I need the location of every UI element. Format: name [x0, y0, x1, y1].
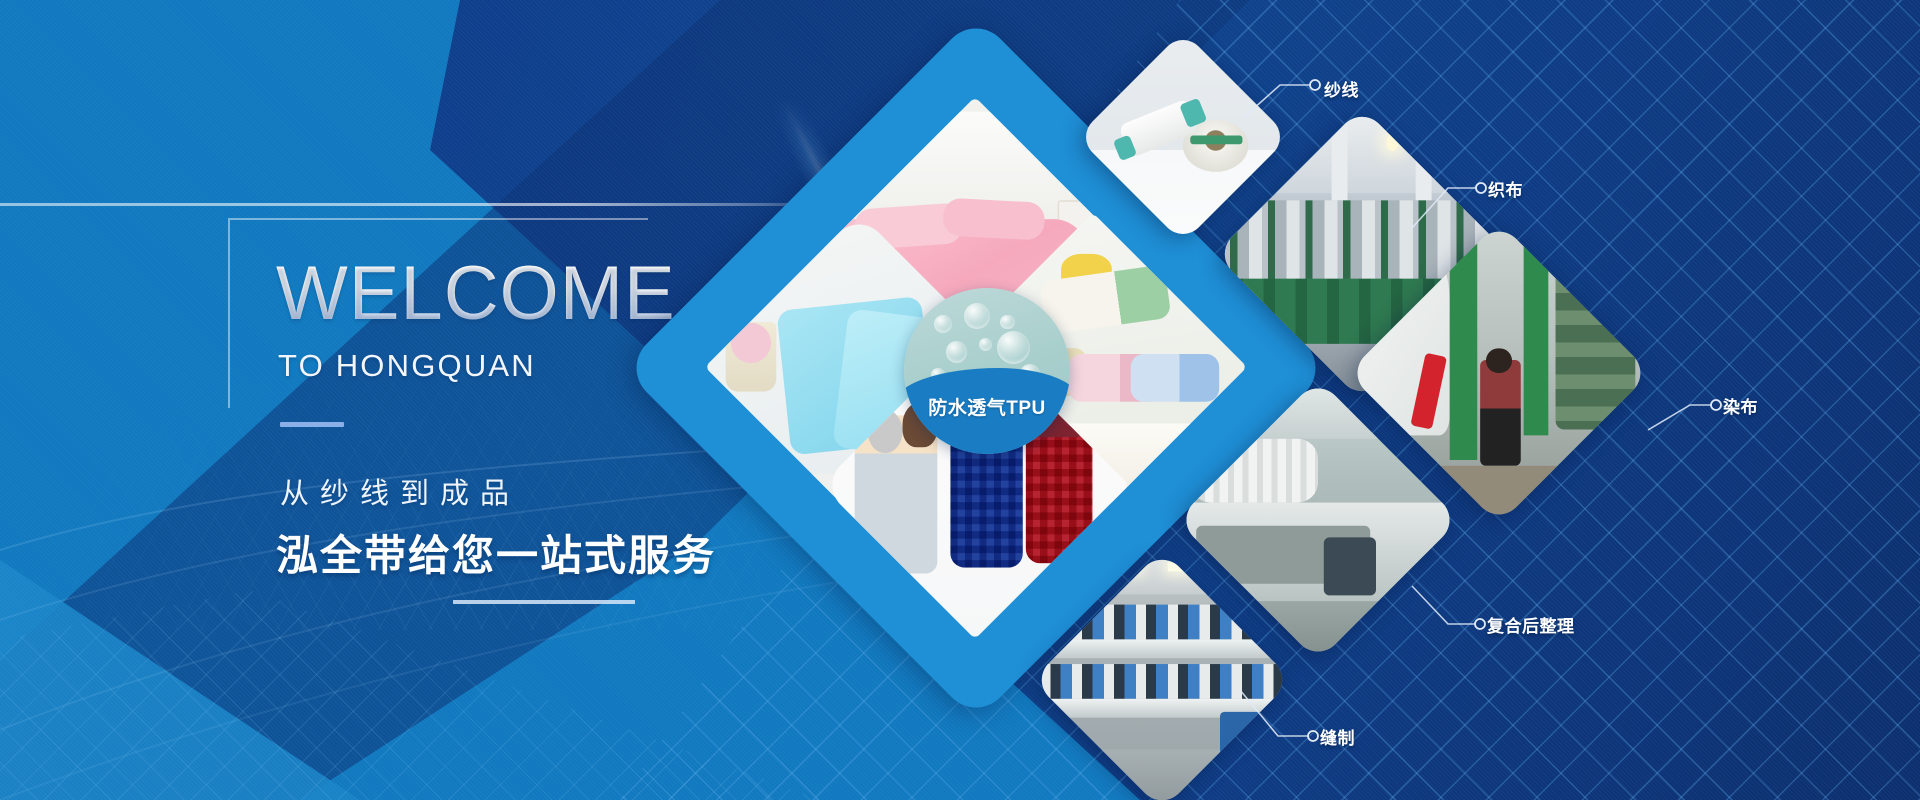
hero-banner: WELCOME TO HONGQUAN 从纱线到成品 泓全带给您一站式服务 [0, 0, 1920, 800]
horizontal-hairline [0, 203, 820, 206]
process-label-sewing: 缝制 [1320, 724, 1355, 749]
bottom-rule [453, 600, 635, 604]
tpu-badge[interactable]: 防水透气TPU [904, 288, 1070, 454]
process-label-yarn: 纱线 [1324, 76, 1359, 101]
tagline-secondary: 从纱线到成品 [280, 470, 520, 512]
badge-label: 防水透气TPU [904, 393, 1070, 420]
accent-dash [280, 422, 344, 427]
page-subtitle: TO HONGQUAN [278, 348, 536, 384]
process-label-dyeing: 染布 [1723, 393, 1758, 418]
page-title: WELCOME [276, 256, 676, 332]
tagline-primary: 泓全带给您一站式服务 [276, 522, 716, 583]
process-label-weaving: 织布 [1488, 176, 1523, 201]
process-label-finishing: 复合后整理 [1487, 612, 1575, 637]
